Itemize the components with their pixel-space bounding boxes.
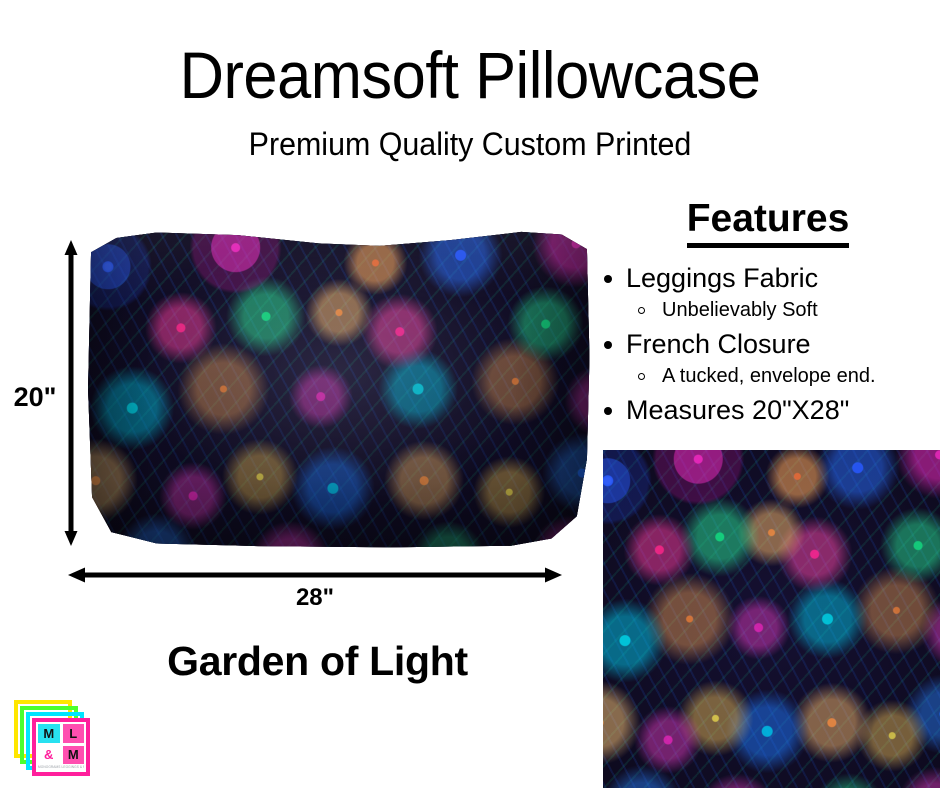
feature-label: Leggings Fabric [626,260,940,296]
logo-tagline: MONOGRAMS LEGGINGS & MORE [38,765,84,769]
page-title: Dreamsoft Pillowcase [33,36,907,114]
feature-sublist: A tucked, envelope end. [626,362,940,391]
feature-item: Measures 20"X28" [596,392,940,428]
features-list: Leggings Fabric Unbelievably Soft French… [596,260,940,428]
features-section: Features Leggings Fabric Unbelievably So… [596,196,940,429]
page-subtitle: Premium Quality Custom Printed [24,124,917,164]
feature-subitem: Unbelievably Soft [626,296,940,325]
pattern-name: Garden of Light [40,636,595,686]
height-dimension-arrow [64,240,78,546]
feature-label: French Closure [626,326,940,362]
feature-item: Leggings Fabric Unbelievably Soft [596,260,940,325]
fabric-swatch-image [603,450,940,788]
product-marketing-image: Dreamsoft Pillowcase Premium Quality Cus… [0,0,940,788]
logo-letter-grid: M L & M [38,724,84,764]
pillow-product-image [86,230,592,548]
logo-cell-ampersand: & [38,746,60,765]
brand-logo: M L & M MONOGRAMS LEGGINGS & MORE [14,700,94,780]
feature-item: French Closure A tucked, envelope end. [596,326,940,391]
feature-sublist: Unbelievably Soft [626,296,940,325]
feature-label: Measures 20"X28" [626,392,940,428]
features-heading-text: Features [687,196,850,248]
width-dimension-arrow [68,566,562,584]
logo-cell-l: L [63,724,85,743]
pillow-shape [86,230,592,548]
pillow-fabric-pattern [86,230,592,548]
swatch-fabric-pattern [603,450,940,788]
height-label: 20" [8,381,62,413]
width-label: 28" [250,583,380,613]
features-heading: Features [596,196,940,250]
logo-cell-m1: M [38,724,60,743]
logo-cell-m2: M [63,746,85,765]
feature-subitem: A tucked, envelope end. [626,362,940,391]
